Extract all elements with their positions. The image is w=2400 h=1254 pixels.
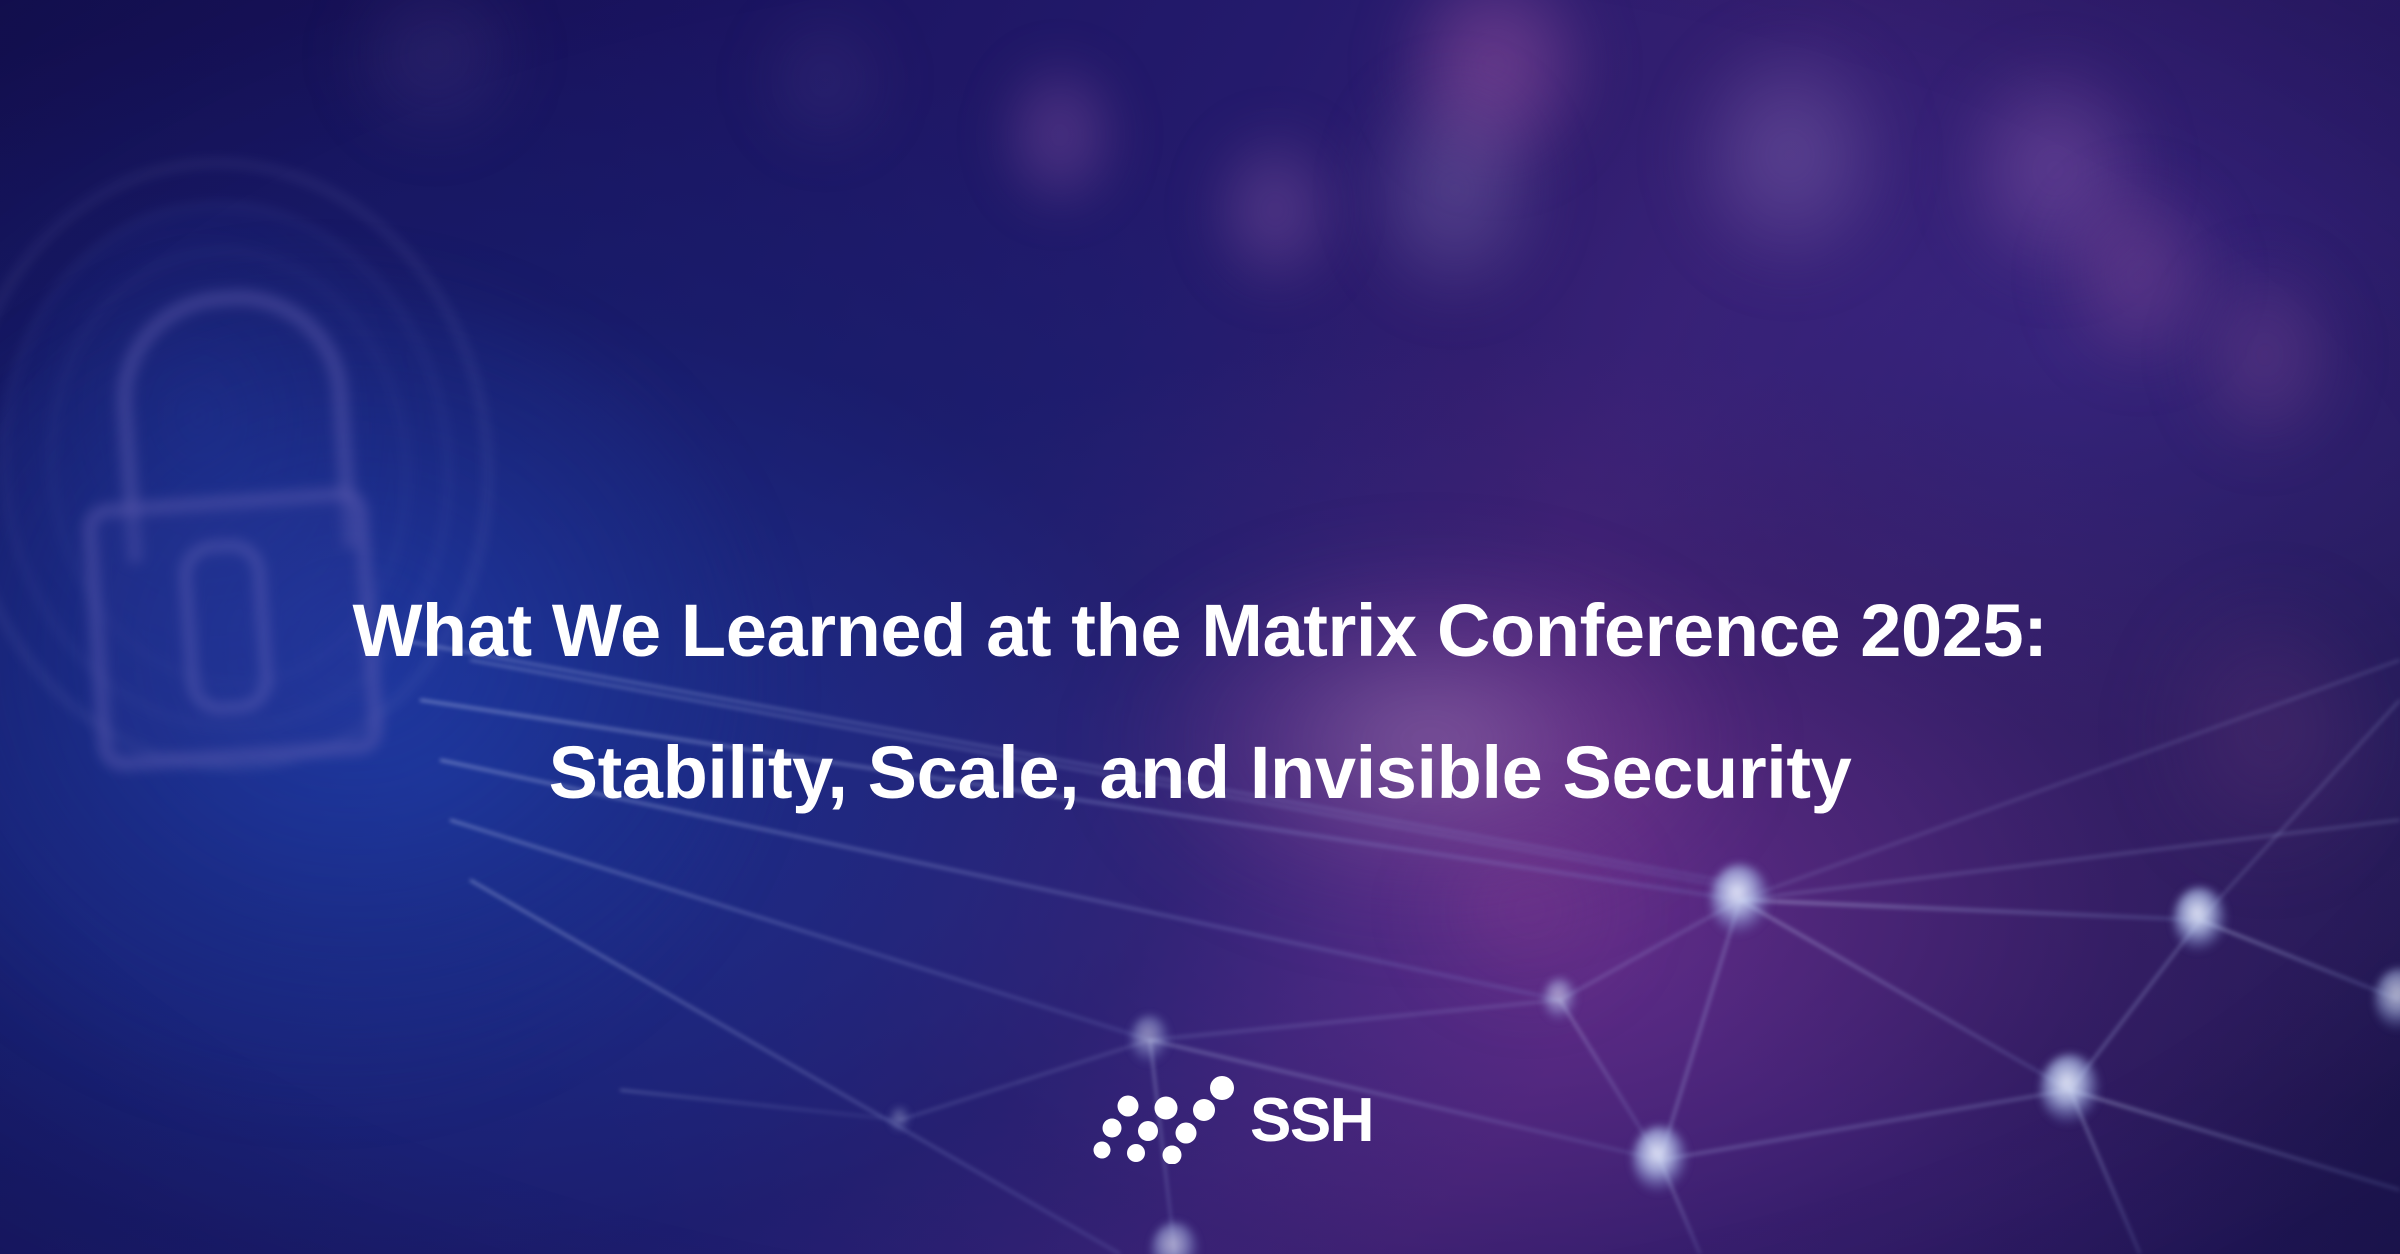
network-node (2040, 1054, 2100, 1126)
network-node (1543, 978, 1577, 1022)
network-node (890, 1107, 910, 1133)
network-node (1710, 864, 1770, 936)
ssh-wordmark: SSH (1250, 1090, 1373, 1152)
network-node (2173, 887, 2227, 953)
page-title: What We Learned at the Matrix Conference… (0, 560, 2400, 844)
ssh-logo: SSH (1090, 1075, 1390, 1165)
title-line-1: What We Learned at the Matrix Conference… (0, 560, 2400, 702)
banner-image: What We Learned at the Matrix Conference… (0, 0, 2400, 1254)
network-node (1632, 1126, 1688, 1194)
title-line-2: Stability, Scale, and Invisible Security (0, 702, 2400, 844)
network-node (1151, 1222, 1199, 1254)
ssh-dot-matrix-icon (1090, 1076, 1260, 1164)
network-node (2374, 968, 2400, 1032)
network-node (1130, 1015, 1170, 1065)
